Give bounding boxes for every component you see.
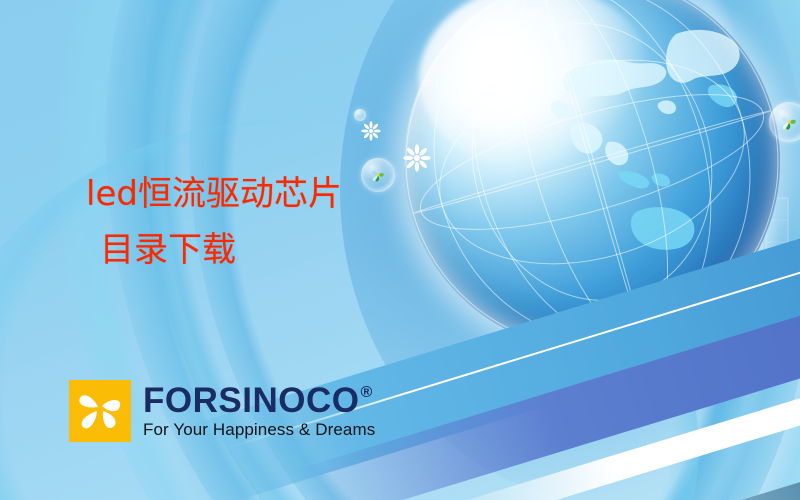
headline-line-2: 目录下载 [86, 222, 342, 278]
headline: led恒流驱动芯片 目录下载 [86, 166, 342, 278]
bubble-pinwheel-icon [500, 328, 540, 368]
company-logo: FORSINOCO ® For Your Happiness & Dreams [69, 380, 375, 442]
starburst-icon [403, 144, 431, 172]
pinwheel-icon [779, 112, 799, 132]
pinwheel-icon [510, 338, 530, 358]
pinwheel-icon [370, 167, 387, 184]
logo-wordmark-text: FORSINOCO [143, 383, 359, 419]
bubble-pinwheel-icon [361, 158, 395, 192]
logo-wordmark: FORSINOCO ® [143, 383, 375, 419]
headline-line-1: led恒流驱动芯片 [86, 166, 342, 222]
globe-icon [404, 0, 780, 350]
bubble-small-icon [354, 109, 366, 121]
starburst-icon [361, 121, 381, 141]
logo-tagline: For Your Happiness & Dreams [143, 420, 375, 439]
logo-text-block: FORSINOCO ® For Your Happiness & Dreams [143, 383, 375, 439]
promo-banner: led恒流驱动芯片 目录下载 FORSINOCO ® For Your Happ… [0, 0, 800, 500]
four-petal-pinwheel-icon [69, 380, 131, 442]
registered-trademark-symbol: ® [360, 385, 372, 401]
